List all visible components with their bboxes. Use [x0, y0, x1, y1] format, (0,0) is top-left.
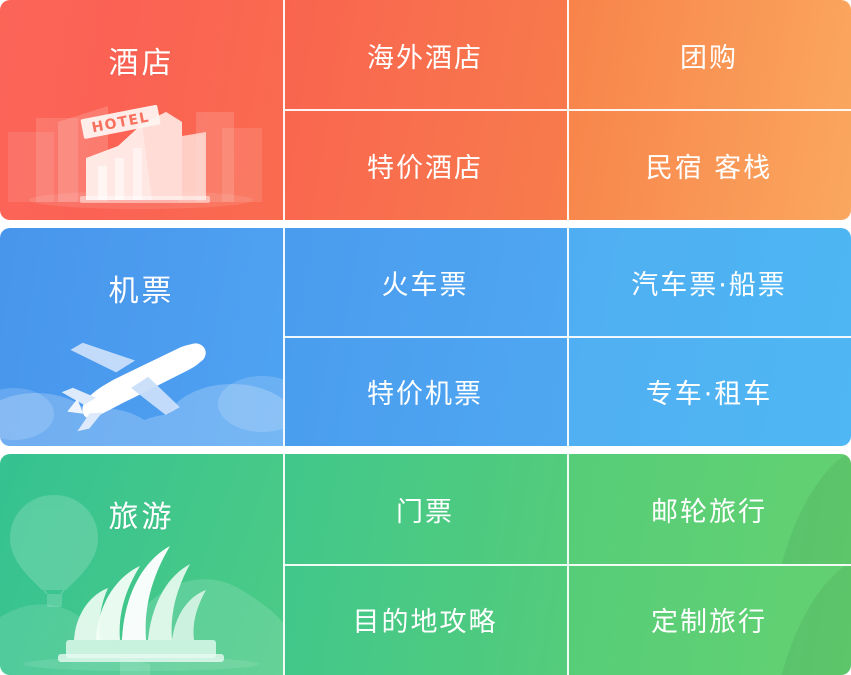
category-board: 酒店 — [0, 0, 851, 675]
subcategory-label: 团购 — [680, 36, 738, 75]
subcategory-homestay-inn[interactable]: 民宿 客栈 — [567, 110, 851, 220]
hero-panel-tour[interactable]: 旅游 — [0, 454, 283, 675]
opera-house-sails — [58, 546, 224, 662]
category-card-flight: 机票 — [0, 228, 851, 446]
subcategory-label: 火车票 — [382, 263, 469, 302]
category-title-hotel: 酒店 — [0, 0, 283, 82]
subcategory-bus-boat-ticket[interactable]: 汽车票·船票 — [567, 228, 851, 337]
subcategory-label: 民宿 客栈 — [646, 146, 773, 185]
subcategory-train-ticket[interactable]: 火车票 — [283, 228, 567, 337]
hero-panel-hotel[interactable]: 酒店 — [0, 0, 283, 220]
subcategory-discount-hotel[interactable]: 特价酒店 — [283, 110, 567, 220]
subcategory-destination-guide[interactable]: 目的地攻略 — [283, 565, 567, 675]
subcategory-discount-flight[interactable]: 特价机票 — [283, 337, 567, 446]
subcategory-cruise-travel[interactable]: 邮轮旅行 — [567, 454, 851, 565]
category-card-hotel: 酒店 — [0, 0, 851, 220]
grid-divider-row — [283, 564, 851, 566]
subcategory-grid-flight: 火车票 汽车票·船票 特价机票 专车·租车 — [283, 228, 851, 446]
hero-panel-flight[interactable]: 机票 — [0, 228, 283, 446]
subcategory-label: 特价酒店 — [367, 146, 483, 185]
category-card-tour: 旅游 — [0, 454, 851, 675]
grid-divider-row — [283, 336, 851, 338]
subcategory-grid-hotel: 海外酒店 团购 特价酒店 民宿 客栈 — [283, 0, 851, 220]
hotel-sign-text: HOTEL — [90, 109, 151, 136]
category-title-tour: 旅游 — [0, 454, 283, 536]
subcategory-label: 定制旅行 — [651, 600, 767, 639]
subcategory-label: 汽车票·船票 — [631, 263, 787, 302]
subcategory-grid-tour: 门票 邮轮旅行 目的地攻略 定制旅行 — [283, 454, 851, 675]
subcategory-custom-travel[interactable]: 定制旅行 — [567, 565, 851, 675]
category-title-flight: 机票 — [0, 228, 283, 310]
subcategory-label: 邮轮旅行 — [651, 490, 767, 529]
subcategory-label: 专车·租车 — [646, 372, 773, 411]
subcategory-chauffeur-car-rental[interactable]: 专车·租车 — [567, 337, 851, 446]
subcategory-label: 特价机票 — [367, 372, 483, 411]
subcategory-label: 门票 — [396, 490, 454, 529]
subcategory-label: 海外酒店 — [367, 36, 483, 75]
subcategory-label: 目的地攻略 — [353, 600, 498, 639]
subcategory-group-buy[interactable]: 团购 — [567, 0, 851, 110]
subcategory-attraction-ticket[interactable]: 门票 — [283, 454, 567, 565]
grid-divider-row — [283, 109, 851, 111]
subcategory-overseas-hotel[interactable]: 海外酒店 — [283, 0, 567, 110]
